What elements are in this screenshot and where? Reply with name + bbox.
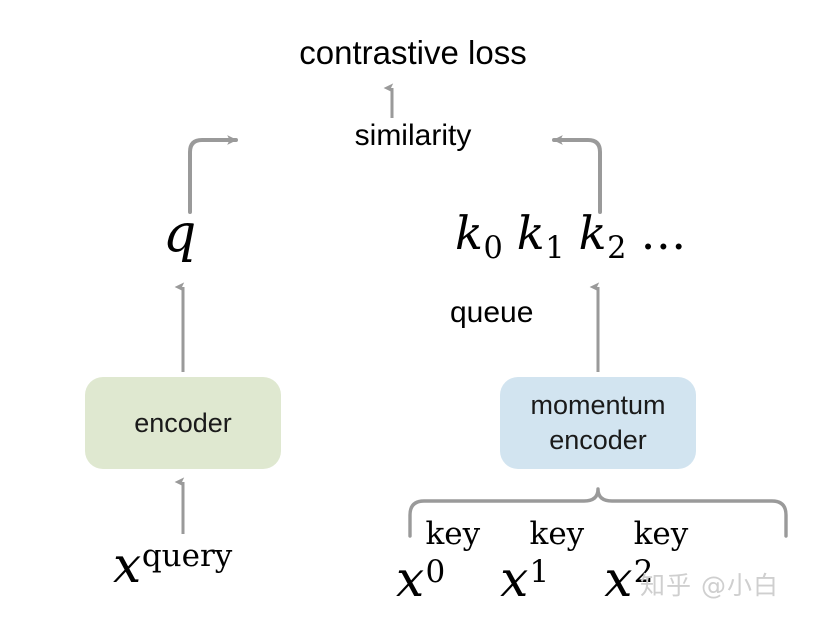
- queue-label: queue: [450, 297, 533, 329]
- q-variable: q: [163, 204, 196, 264]
- key-representations-row: k0k1k2…: [455, 210, 688, 264]
- moco-diagram-canvas: contrastive loss similarity queue q k0k1…: [0, 0, 826, 634]
- key-symbol-2: k2: [579, 206, 627, 260]
- key-ellipsis: …: [640, 206, 688, 260]
- contrastive-loss-label: contrastive loss: [0, 36, 826, 71]
- key-symbol-0: k0: [455, 206, 503, 260]
- query-input-symbol: xquery: [113, 540, 232, 590]
- momentum-encoder-box[interactable]: momentumencoder: [500, 377, 696, 469]
- encoder-box-label: encoder: [134, 406, 232, 441]
- similarity-label: similarity: [0, 120, 826, 152]
- key-input-symbol-1: xkey1: [500, 550, 584, 608]
- momentum-encoder-line-2: encoder: [549, 425, 647, 455]
- x-query-superscript: query: [142, 538, 233, 574]
- momentum-encoder-box-label: momentumencoder: [530, 388, 665, 457]
- x-query-variable: x: [113, 536, 141, 594]
- key-input-symbol-0: xkey0: [396, 550, 480, 608]
- encoder-box[interactable]: encoder: [85, 377, 281, 469]
- momentum-encoder-line-1: momentum: [530, 390, 665, 420]
- query-representation-symbol: q: [163, 208, 196, 260]
- key-symbol-1: k1: [517, 206, 565, 260]
- zhihu-watermark: 知乎 @小白: [640, 566, 779, 602]
